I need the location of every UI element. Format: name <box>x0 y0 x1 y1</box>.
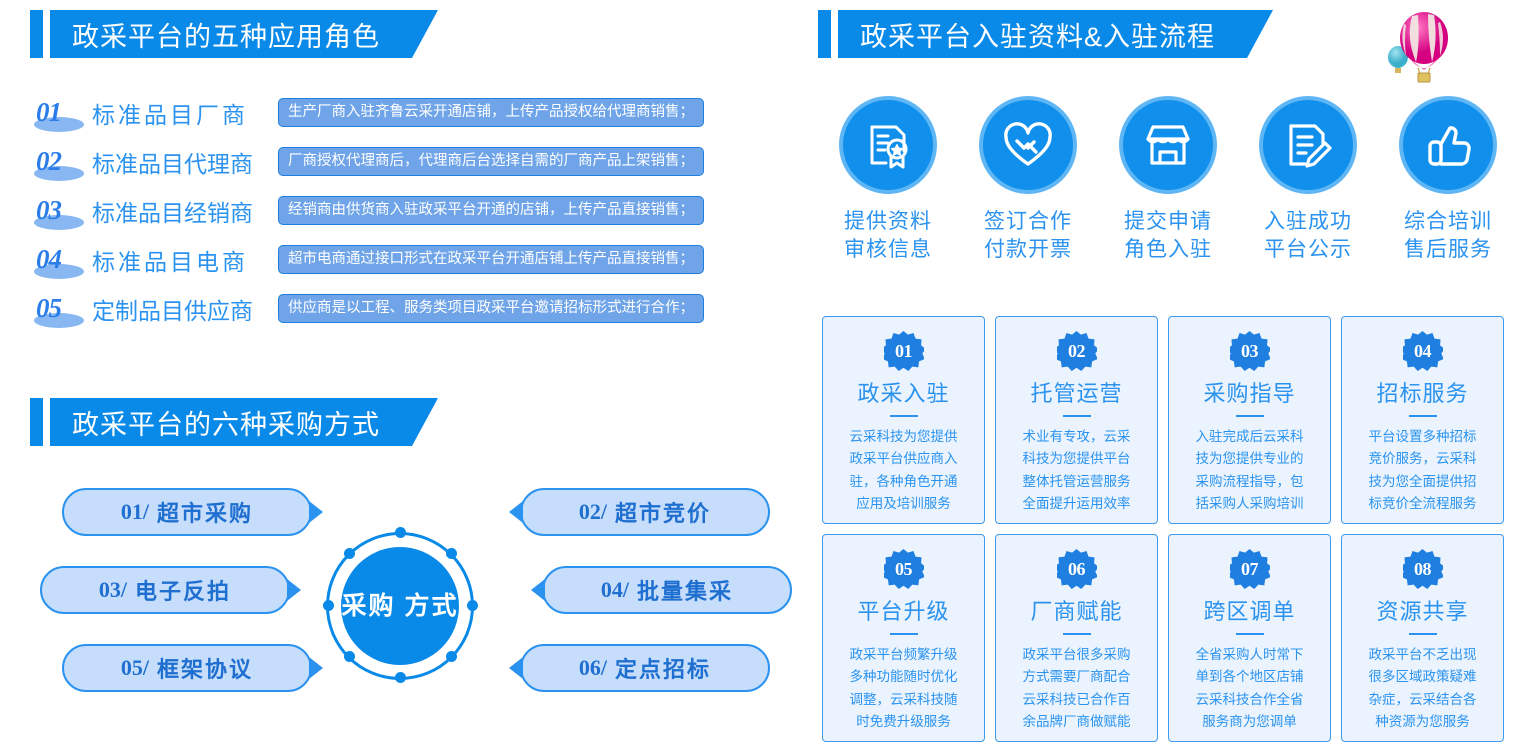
roles-list: 01 标准品目厂商 生产厂商入驻齐鲁云采开通店铺，上传产品授权给代理商销售； 0… <box>32 88 792 333</box>
card-title: 资源共享 <box>1376 594 1468 626</box>
card-body: 入驻完成后云采科 技为您提供专业的 采购流程指导，包 括采购人采购培训 <box>1183 426 1317 515</box>
pill-pointer-icon <box>531 579 545 601</box>
card-body: 政采平台不乏出现 很多区域政策疑难 杂症，云采结合各 种资源为您服务 <box>1356 644 1490 733</box>
banner-accent-bar <box>30 10 43 58</box>
role-number-text: 04 <box>36 244 61 275</box>
badge-icon: 01 <box>884 331 924 371</box>
hot-air-balloon-icon <box>1382 4 1522 86</box>
role-row: 01 标准品目厂商 生产厂商入驻齐鲁云采开通店铺，上传产品授权给代理商销售； <box>32 88 792 137</box>
step-label: 签订合作 付款开票 <box>984 208 1072 265</box>
service-card[interactable]: 01 政采入驻 云采科技为您提供 政采平台供应商入 驻，各种角色开通 应用及培训… <box>822 316 985 524</box>
step-item[interactable]: 综合培训 售后服务 <box>1378 96 1518 265</box>
step-label: 提供资料 审核信息 <box>844 208 932 265</box>
card-divider <box>1236 633 1264 635</box>
badge-icon: 02 <box>1057 331 1097 371</box>
service-card[interactable]: 03 采购指导 入驻完成后云采科 技为您提供专业的 采购流程指导，包 括采购人采… <box>1168 316 1331 524</box>
service-card[interactable]: 07 跨区调单 全省采购人时常下 单到各个地区店铺 云采科技合作全省 服务商为您… <box>1168 534 1331 742</box>
roles-banner-title: 政采平台的五种应用角色 <box>72 15 380 54</box>
service-card[interactable]: 06 厂商赋能 政采平台很多采购 方式需要厂商配合 云采科技已合作百 余品牌厂商… <box>995 534 1158 742</box>
badge-icon: 03 <box>1230 331 1270 371</box>
card-number: 08 <box>1414 559 1431 580</box>
hub-dot <box>395 527 406 538</box>
card-body: 政采平台很多采购 方式需要厂商配合 云采科技已合作百 余品牌厂商做赋能 <box>1010 644 1144 733</box>
card-body: 政采平台频繁升级 多种功能随时优化 调整，云采科技随 时免费升级服务 <box>837 644 971 733</box>
role-number: 05 <box>32 293 92 324</box>
role-row: 04 标准品目电商 超市电商通过接口形式在政采平台开通店铺上传产品直接销售； <box>32 235 792 284</box>
card-number: 05 <box>895 559 912 580</box>
storefront-icon <box>1119 96 1217 194</box>
role-row: 03 标准品目经销商 经销商由供货商入驻政采平台开通的店铺，上传产品直接销售； <box>32 186 792 235</box>
badge-icon: 04 <box>1403 331 1443 371</box>
method-pill-05[interactable]: 05/ 框架协议 <box>62 644 312 692</box>
hub-dot <box>323 600 334 611</box>
role-number-text: 02 <box>36 146 61 177</box>
pill-pointer-icon <box>509 657 523 679</box>
step-item[interactable]: 签订合作 付款开票 <box>958 96 1098 265</box>
hub-dot <box>467 600 478 611</box>
hub-dot <box>395 672 406 683</box>
role-number: 04 <box>32 244 92 275</box>
role-description: 生产厂商入驻齐鲁云采开通店铺，上传产品授权给代理商销售； <box>278 98 704 128</box>
step-item[interactable]: 提供资料 审核信息 <box>818 96 958 265</box>
banner-plate: 政采平台的六种采购方式 <box>50 398 438 446</box>
method-number: 02/ <box>579 499 607 525</box>
hub-label: 采购 方式 <box>341 547 459 665</box>
method-label: 电子反拍 <box>135 574 231 606</box>
join-steps: 提供资料 审核信息 签订合作 付款开票 提交申请 <box>818 96 1518 265</box>
card-number: 06 <box>1068 559 1085 580</box>
role-title: 标准品目代理商 <box>92 145 278 179</box>
step-label: 提交申请 角色入驻 <box>1124 208 1212 265</box>
badge-icon: 08 <box>1403 549 1443 589</box>
step-label: 综合培训 售后服务 <box>1404 208 1492 265</box>
document-edit-icon <box>1259 96 1357 194</box>
card-divider <box>1409 415 1437 417</box>
method-pill-04[interactable]: 04/ 批量集采 <box>542 566 792 614</box>
method-label: 框架协议 <box>157 652 253 684</box>
card-number: 04 <box>1414 341 1431 362</box>
card-number: 03 <box>1241 341 1258 362</box>
card-title: 政采入驻 <box>857 376 949 408</box>
infographic-page: 政采平台的五种应用角色 01 标准品目厂商 生产厂商入驻齐鲁云采开通店铺，上传产… <box>0 0 1529 752</box>
method-number: 04/ <box>601 577 629 603</box>
card-title: 采购指导 <box>1203 376 1295 408</box>
card-body: 术业有专攻，云采 科技为您提供平台 整体托管运营服务 全面提升运用效率 <box>1010 426 1144 515</box>
card-body: 云采科技为您提供 政采平台供应商入 驻，各种角色开通 应用及培训服务 <box>837 426 971 515</box>
role-number-text: 05 <box>36 293 61 324</box>
card-body: 平台设置多种招标 竞价服务，云采科 技为您全面提供招 标竞价全流程服务 <box>1356 426 1490 515</box>
role-title: 标准品目经销商 <box>92 194 278 228</box>
card-number: 01 <box>895 341 912 362</box>
method-number: 05/ <box>121 655 149 681</box>
method-label: 定点招标 <box>615 652 711 684</box>
methods-banner-title: 政采平台的六种采购方式 <box>72 403 380 442</box>
thumbs-up-icon <box>1399 96 1497 194</box>
role-description: 供应商是以工程、服务类项目政采平台邀请招标形式进行合作； <box>278 294 704 324</box>
role-number: 01 <box>32 97 92 128</box>
banner-accent-bar <box>818 10 831 58</box>
card-divider <box>1236 415 1264 417</box>
method-number: 06/ <box>579 655 607 681</box>
badge-icon: 06 <box>1057 549 1097 589</box>
method-pill-02[interactable]: 02/ 超市竞价 <box>520 488 770 536</box>
card-title: 厂商赋能 <box>1030 594 1122 626</box>
role-description: 厂商授权代理商后，代理商后台选择自需的厂商产品上架销售； <box>278 147 704 177</box>
badge-icon: 05 <box>884 549 924 589</box>
card-divider <box>1409 633 1437 635</box>
method-label: 超市采购 <box>157 496 253 528</box>
join-banner-title: 政采平台入驻资料&入驻流程 <box>860 15 1215 54</box>
card-divider <box>890 633 918 635</box>
card-divider <box>890 415 918 417</box>
method-pill-03[interactable]: 03/ 电子反拍 <box>40 566 290 614</box>
service-cards-grid: 01 政采入驻 云采科技为您提供 政采平台供应商入 驻，各种角色开通 应用及培训… <box>822 316 1514 742</box>
card-number: 02 <box>1068 341 1085 362</box>
role-title: 定制品目供应商 <box>92 292 278 326</box>
step-item[interactable]: 提交申请 角色入驻 <box>1098 96 1238 265</box>
banner-plate: 政采平台的五种应用角色 <box>50 10 438 58</box>
method-number: 01/ <box>121 499 149 525</box>
card-body: 全省采购人时常下 单到各个地区店铺 云采科技合作全省 服务商为您调单 <box>1183 644 1317 733</box>
service-card[interactable]: 02 托管运营 术业有专攻，云采 科技为您提供平台 整体托管运营服务 全面提升运… <box>995 316 1158 524</box>
banner-plate: 政采平台入驻资料&入驻流程 <box>838 10 1273 58</box>
card-title: 跨区调单 <box>1203 594 1295 626</box>
card-title: 托管运营 <box>1030 376 1122 408</box>
role-title: 标准品目电商 <box>92 243 278 277</box>
service-card[interactable]: 08 资源共享 政采平台不乏出现 很多区域政策疑难 杂症，云采结合各 种资源为您… <box>1341 534 1504 742</box>
role-number: 03 <box>32 195 92 226</box>
card-title: 平台升级 <box>857 594 949 626</box>
role-number: 02 <box>32 146 92 177</box>
pill-pointer-icon <box>309 501 323 523</box>
role-number-text: 01 <box>36 97 61 128</box>
handshake-heart-icon <box>979 96 1077 194</box>
pill-pointer-icon <box>287 579 301 601</box>
pill-pointer-icon <box>509 501 523 523</box>
role-row: 02 标准品目代理商 厂商授权代理商后，代理商后台选择自需的厂商产品上架销售； <box>32 137 792 186</box>
banner-methods: 政采平台的六种采购方式 <box>30 398 438 446</box>
role-description: 经销商由供货商入驻政采平台开通的店铺，上传产品直接销售； <box>278 196 704 226</box>
step-item[interactable]: 入驻成功 平台公示 <box>1238 96 1378 265</box>
method-label: 超市竞价 <box>615 496 711 528</box>
role-title: 标准品目厂商 <box>92 96 278 130</box>
banner-roles: 政采平台的五种应用角色 <box>30 10 438 58</box>
method-pill-01[interactable]: 01/ 超市采购 <box>62 488 312 536</box>
card-divider <box>1063 415 1091 417</box>
certificate-icon <box>839 96 937 194</box>
methods-hub: 采购 方式 <box>321 530 479 682</box>
service-card[interactable]: 04 招标服务 平台设置多种招标 竞价服务，云采科 技为您全面提供招 标竞价全流… <box>1341 316 1504 524</box>
card-number: 07 <box>1241 559 1258 580</box>
method-number: 03/ <box>99 577 127 603</box>
step-label: 入驻成功 平台公示 <box>1264 208 1352 265</box>
card-divider <box>1063 633 1091 635</box>
card-title: 招标服务 <box>1376 376 1468 408</box>
banner-join: 政采平台入驻资料&入驻流程 <box>818 10 1273 58</box>
role-number-text: 03 <box>36 195 61 226</box>
badge-icon: 07 <box>1230 549 1270 589</box>
role-description: 超市电商通过接口形式在政采平台开通店铺上传产品直接销售； <box>278 245 704 275</box>
banner-accent-bar <box>30 398 43 446</box>
method-pill-06[interactable]: 06/ 定点招标 <box>520 644 770 692</box>
method-label: 批量集采 <box>637 574 733 606</box>
service-card[interactable]: 05 平台升级 政采平台频繁升级 多种功能随时优化 调整，云采科技随 时免费升级… <box>822 534 985 742</box>
role-row: 05 定制品目供应商 供应商是以工程、服务类项目政采平台邀请招标形式进行合作； <box>32 284 792 333</box>
